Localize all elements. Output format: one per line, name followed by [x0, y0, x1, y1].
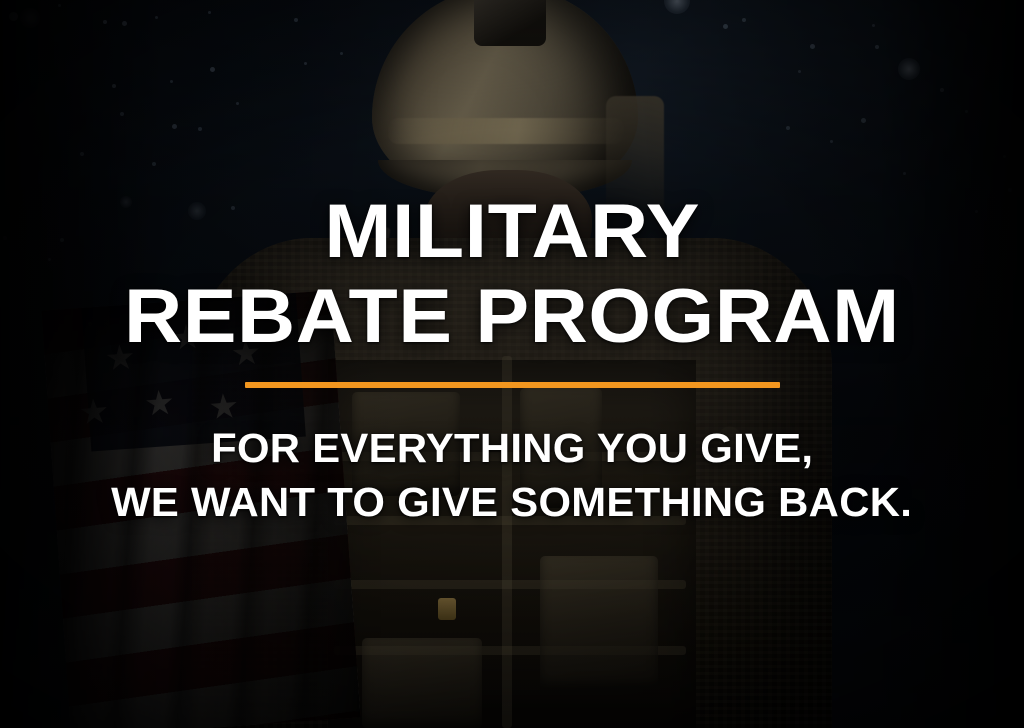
- headline-line-2: REBATE PROGRAM: [124, 281, 900, 354]
- headline-line-1: MILITARY: [324, 196, 700, 269]
- subhead-line-2: WE WANT TO GIVE SOMETHING BACK.: [112, 476, 913, 528]
- subhead-line-1: FOR EVERYTHING YOU GIVE,: [211, 422, 813, 474]
- banner-content: MILITARY REBATE PROGRAM FOR EVERYTHING Y…: [0, 0, 1024, 728]
- orange-divider: [245, 382, 780, 388]
- military-rebate-banner: ★ ★ ★ ★ ★ ★ MILITARY REBATE PROGRAM FOR …: [0, 0, 1024, 728]
